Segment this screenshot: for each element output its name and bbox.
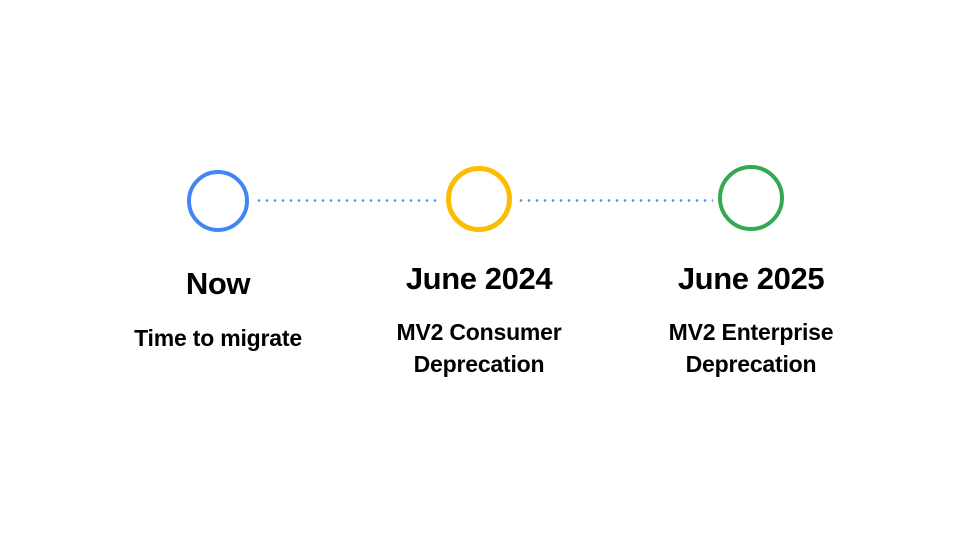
- timeline-diagram: Now Time to migrate June 2024 MV2 Consum…: [0, 0, 960, 540]
- milestone-title-june-2024: June 2024: [329, 261, 629, 297]
- milestone-description-line: MV2 Consumer: [329, 316, 629, 348]
- milestone-marker-wrap-june-2024: [329, 166, 629, 232]
- milestone-description-line: MV2 Enterprise: [601, 316, 901, 348]
- milestone-title-now: Now: [68, 266, 368, 302]
- circle-outline-icon-june-2024: [446, 166, 512, 232]
- circle-outline-icon-now: [187, 170, 249, 232]
- circle-outline-icon-june-2025: [718, 165, 784, 231]
- milestone-description-line: Time to migrate: [68, 322, 368, 354]
- milestone-description-june-2024: MV2 Consumer Deprecation: [329, 316, 629, 380]
- milestone-description-now: Time to migrate: [68, 322, 368, 354]
- milestone-marker-wrap-now: [68, 170, 368, 232]
- milestone-marker-wrap-june-2025: [601, 165, 901, 231]
- milestone-title-june-2025: June 2025: [601, 261, 901, 297]
- milestone-description-line: Deprecation: [601, 348, 901, 380]
- milestone-description-june-2025: MV2 Enterprise Deprecation: [601, 316, 901, 380]
- milestone-description-line: Deprecation: [329, 348, 629, 380]
